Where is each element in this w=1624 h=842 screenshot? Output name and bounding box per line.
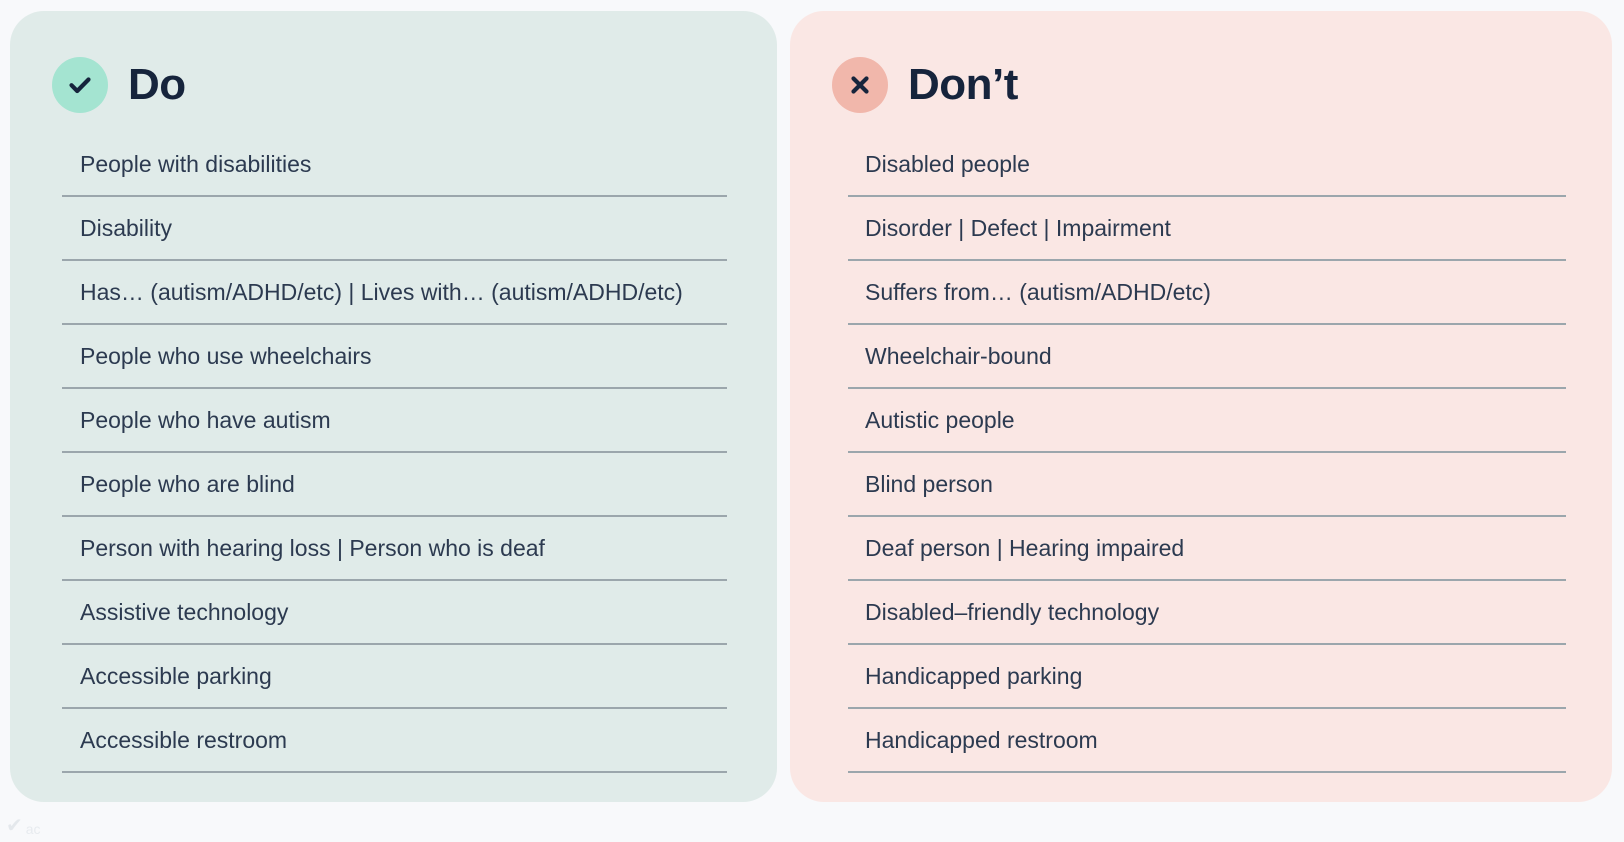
list-item-label: Wheelchair-bound [865,342,1052,371]
list-item[interactable]: Disabled people [848,133,1566,197]
cross-icon [832,57,888,113]
list-item-label: Accessible restroom [80,726,287,755]
list-item-label: Deaf person | Hearing impaired [865,534,1184,563]
list-item-label: Disability [80,214,172,243]
watermark-logo: ✔ ac [6,814,58,836]
list-item-label: People who are blind [80,470,295,499]
dont-card-header: Don’t [790,11,1612,111]
list-item[interactable]: Autistic people [848,389,1566,453]
list-item-label: Person with hearing loss | Person who is… [80,534,545,563]
list-item[interactable]: Disabled–friendly technology [848,581,1566,645]
list-item[interactable]: Wheelchair-bound [848,325,1566,389]
list-item-label: Disabled–friendly technology [865,598,1159,627]
check-icon [52,57,108,113]
list-item-label: Autistic people [865,406,1015,435]
list-item-label: Has… (autism/ADHD/etc) | Lives with… (au… [80,278,683,307]
list-item[interactable]: Accessible parking [62,645,727,709]
list-item[interactable]: Has… (autism/ADHD/etc) | Lives with… (au… [62,261,727,325]
list-item[interactable]: People who use wheelchairs [62,325,727,389]
list-item[interactable]: Suffers from… (autism/ADHD/etc) [848,261,1566,325]
do-dont-board: Do People with disabilities Disability H… [0,0,1624,842]
list-item[interactable]: Disorder | Defect | Impairment [848,197,1566,261]
list-item-label: People with disabilities [80,150,311,179]
list-item-label: Disorder | Defect | Impairment [865,214,1171,243]
list-item[interactable]: Accessible restroom [62,709,727,773]
list-item[interactable]: People who have autism [62,389,727,453]
list-item-label: Suffers from… (autism/ADHD/etc) [865,278,1211,307]
list-item-label: People who have autism [80,406,331,435]
list-item-label: People who use wheelchairs [80,342,372,371]
list-item[interactable]: Deaf person | Hearing impaired [848,517,1566,581]
do-card-title: Do [128,63,186,107]
list-item-label: Assistive technology [80,598,288,627]
dont-list: Disabled people Disorder | Defect | Impa… [790,133,1612,773]
list-item-label: Accessible parking [80,662,272,691]
list-item-label: Handicapped restroom [865,726,1098,755]
list-item[interactable]: Handicapped restroom [848,709,1566,773]
watermark-check-icon: ✔ [6,816,23,836]
watermark-text: ac [26,822,41,836]
list-item[interactable]: Disability [62,197,727,261]
do-card-header: Do [10,11,777,111]
do-list: People with disabilities Disability Has…… [10,133,777,773]
list-item-label: Disabled people [865,150,1030,179]
list-item[interactable]: Handicapped parking [848,645,1566,709]
do-card: Do People with disabilities Disability H… [10,11,777,802]
list-item[interactable]: People who are blind [62,453,727,517]
list-item[interactable]: Assistive technology [62,581,727,645]
list-item[interactable]: People with disabilities [62,133,727,197]
dont-card: Don’t Disabled people Disorder | Defect … [790,11,1612,802]
list-item[interactable]: Person with hearing loss | Person who is… [62,517,727,581]
dont-card-title: Don’t [908,63,1018,107]
list-item[interactable]: Blind person [848,453,1566,517]
list-item-label: Handicapped parking [865,662,1082,691]
list-item-label: Blind person [865,470,993,499]
